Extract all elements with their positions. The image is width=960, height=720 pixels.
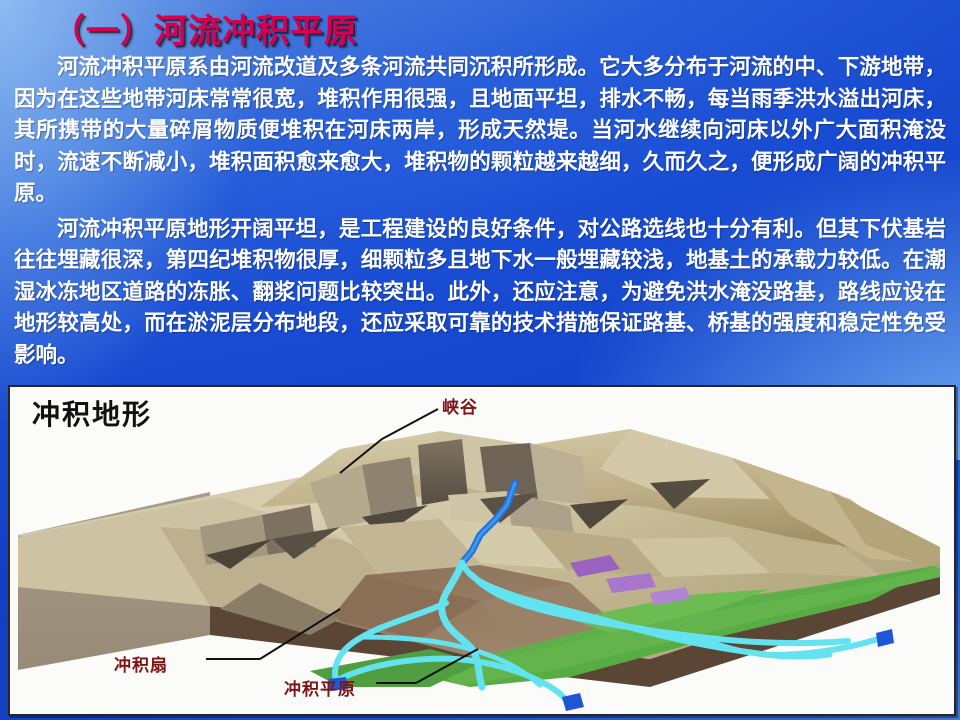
body-text: 河流冲积平原系由河流改道及多条河流共同沉积所形成。它大多分布于河流的中、下游地带… <box>14 52 946 371</box>
paragraph-1: 河流冲积平原系由河流改道及多条河流共同沉积所形成。它大多分布于河流的中、下游地带… <box>14 52 946 210</box>
label-canyon: 峡谷 <box>442 393 478 418</box>
figure-panel: 冲积地形 峡谷 冲积扇 冲积平原 <box>8 385 956 716</box>
page-title: （一）河流冲积平原 <box>52 4 358 52</box>
label-alluvial-plain: 冲积平原 <box>284 675 356 700</box>
slide-canvas: （一）河流冲积平原 河流冲积平原系由河流改道及多条河流共同沉积所形成。它大多分布… <box>0 0 960 720</box>
paragraph-2: 河流冲积平原地形开阔平坦，是工程建设的良好条件，对公路选线也十分有利。但其下伏基… <box>14 214 946 372</box>
label-alluvial-fan: 冲积扇 <box>114 651 168 676</box>
figure-title: 冲积地形 <box>32 393 152 433</box>
